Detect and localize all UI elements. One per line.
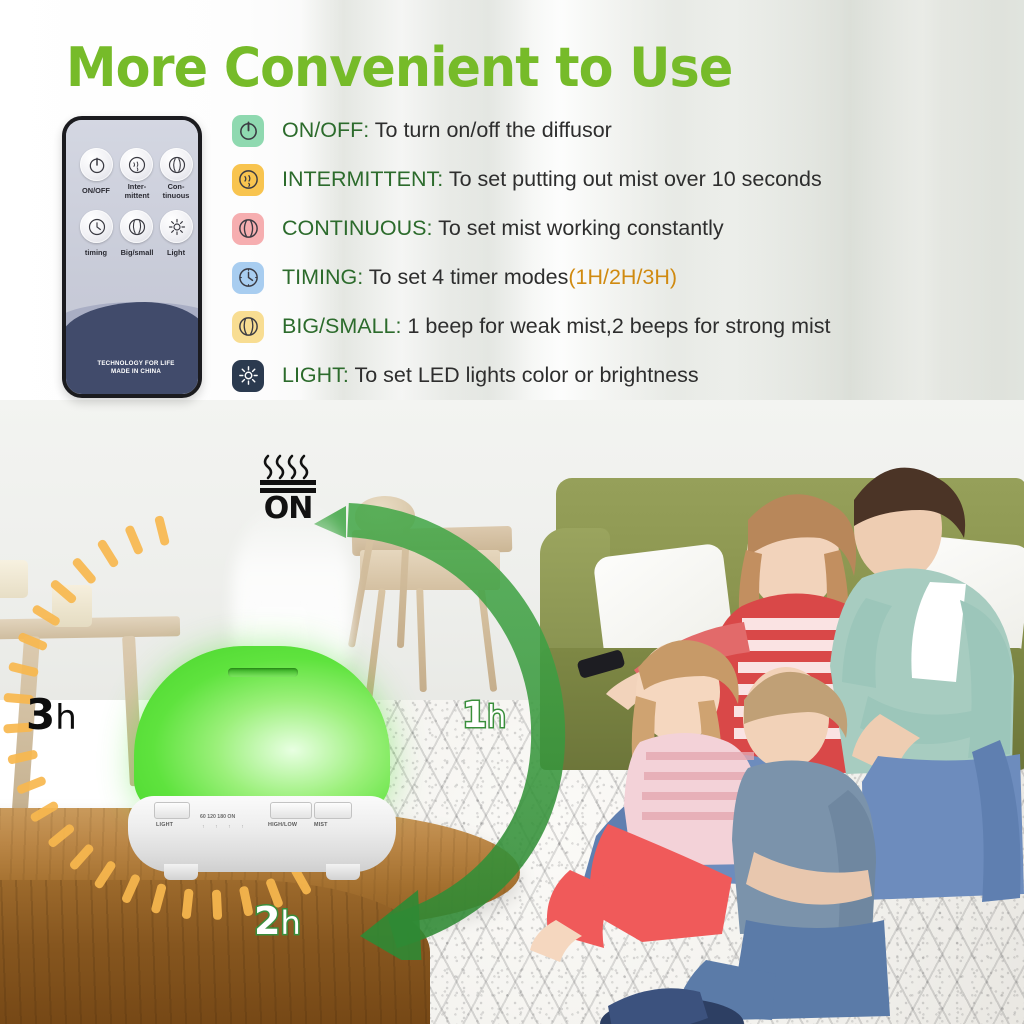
remote-button-light[interactable]	[160, 210, 193, 243]
remote-label-onoff: ON/OFF	[74, 186, 118, 195]
feature-text: LIGHT: To set LED lights color or bright…	[282, 363, 699, 388]
timer-arc-tick	[93, 860, 117, 890]
clock-icon	[87, 217, 107, 237]
remote-button-onoff[interactable]	[80, 148, 113, 181]
feature-row: BIG/SMALL: 1 beep for weak mist,2 beeps …	[232, 302, 932, 351]
remote-control: TECHNOLOGY FOR LIFE MADE IN CHINA ON/OFF	[62, 116, 202, 398]
intermittent-mist-icon	[237, 168, 260, 191]
diffuser-control-panel: LIGHT 60 120 180 ON ↑ ↑ ↑ ↑ HIGH/LOW MIS…	[148, 802, 380, 848]
feature-icon-badge	[232, 213, 264, 245]
timer-arc-tick	[239, 886, 254, 917]
remote-footer-line1: TECHNOLOGY FOR LIFE	[66, 360, 202, 368]
feature-icon-badge	[232, 262, 264, 294]
high-low-button[interactable]	[270, 802, 312, 819]
feature-row: ON/OFF: To turn on/off the diffusor	[232, 106, 932, 155]
timer-arc-tick	[17, 632, 48, 652]
timer-label-2h: 2h	[254, 902, 301, 940]
remote-footer-text: TECHNOLOGY FOR LIFE MADE IN CHINA	[66, 360, 202, 376]
light-button-label: LIGHT	[156, 822, 190, 828]
remote-label-bigsmall: Big/small	[115, 248, 159, 257]
big-small-mist-icon	[127, 217, 147, 237]
timer-scale-labels: 60 120 180 ON	[200, 814, 235, 820]
remote-label-continuous: Con- tinuous	[154, 182, 198, 200]
remote-button-intermittent[interactable]	[120, 148, 153, 181]
remote-label-timing: timing	[74, 248, 118, 257]
feature-label: LIGHT:	[282, 363, 349, 387]
continuous-mist-icon	[167, 155, 187, 175]
mist-outlet-slot	[228, 668, 298, 677]
feature-description: To set LED lights color or brightness	[349, 363, 699, 387]
timer-label-1h-unit: h	[487, 700, 506, 735]
feature-text: TIMING: To set 4 timer modes(1H/2H/3H)	[282, 265, 677, 290]
feature-row: LIGHT: To set LED lights color or bright…	[232, 351, 932, 400]
feature-label: ON/OFF:	[282, 118, 369, 142]
continuous-mist-icon	[237, 217, 260, 240]
feature-text: ON/OFF: To turn on/off the diffusor	[282, 118, 612, 143]
feature-text: CONTINUOUS: To set mist working constant…	[282, 216, 724, 241]
timer-arc-tick	[182, 889, 194, 920]
remote-footer-line2: MADE IN CHINA	[66, 368, 202, 376]
power-icon	[87, 155, 107, 175]
steam-lines-icon	[259, 452, 317, 480]
feature-icon-badge	[232, 360, 264, 392]
light-sun-icon	[167, 217, 187, 237]
on-marker-label: ON	[248, 494, 328, 524]
timer-label-1h: 1h	[462, 698, 506, 734]
feature-accent: (1H/2H/3H)	[568, 265, 677, 289]
timer-label-3h-value: 3	[26, 690, 55, 739]
on-state-marker: ON	[248, 452, 328, 524]
on-marker-bar	[260, 480, 316, 485]
feature-label: BIG/SMALL:	[282, 314, 402, 338]
remote-label-intermittent: Inter- mittent	[115, 182, 159, 200]
timer-arc-tick	[212, 890, 222, 920]
high-low-button-label: HIGH/LOW	[268, 822, 314, 828]
timer-arc-tick	[49, 578, 78, 604]
feature-text: BIG/SMALL: 1 beep for weak mist,2 beeps …	[282, 314, 831, 339]
feature-description: To turn on/off the diffusor	[369, 118, 612, 142]
timer-arc-tick	[68, 843, 95, 871]
remote-label-light: Light	[154, 248, 198, 257]
timer-label-2h-value: 2	[254, 899, 280, 943]
feature-row: TIMING: To set 4 timer modes(1H/2H/3H)	[232, 253, 932, 302]
timer-label-3h-unit: h	[55, 698, 77, 738]
remote-button-continuous[interactable]	[160, 148, 193, 181]
feature-icon-badge	[232, 311, 264, 343]
big-small-mist-icon	[237, 315, 260, 338]
timer-arc-tick	[47, 823, 76, 849]
timer-arc-tick	[150, 883, 166, 914]
remote-footer-panel	[62, 302, 202, 394]
feature-description: To set 4 timer modes	[363, 265, 568, 289]
timer-label-2h-unit: h	[280, 904, 300, 942]
feature-list: ON/OFF: To turn on/off the diffusor INTE…	[232, 106, 932, 400]
timer-arc-tick	[154, 515, 170, 546]
timer-arc-tick	[16, 775, 47, 794]
mist-button[interactable]	[314, 802, 352, 819]
light-button[interactable]	[154, 802, 190, 819]
timer-label-1h-value: 1	[462, 695, 487, 736]
timer-arc-tick	[29, 800, 59, 823]
feature-row: INTERMITTENT: To set putting out mist ov…	[232, 155, 932, 204]
feature-text: INTERMITTENT: To set putting out mist ov…	[282, 167, 822, 192]
remote-button-timing[interactable]	[80, 210, 113, 243]
product-infographic: LIGHT 60 120 180 ON ↑ ↑ ↑ ↑ HIGH/LOW MIS…	[0, 0, 1024, 1024]
timer-scale-marks: ↑ ↑ ↑ ↑	[202, 824, 248, 830]
feature-description: To set mist working constantly	[433, 216, 724, 240]
feature-label: INTERMITTENT:	[282, 167, 443, 191]
timer-arc-tick	[31, 604, 61, 627]
aroma-diffuser: LIGHT 60 120 180 ON ↑ ↑ ↑ ↑ HIGH/LOW MIS…	[128, 646, 396, 886]
mist-button-label: MIST	[314, 822, 352, 828]
timer-arc-tick	[96, 538, 119, 568]
feature-icon-badge	[232, 115, 264, 147]
remote-button-bigsmall[interactable]	[120, 210, 153, 243]
timer-label-3h: 3h	[26, 694, 77, 736]
intermittent-mist-icon	[127, 155, 147, 175]
feature-description: 1 beep for weak mist,2 beeps for strong …	[402, 314, 831, 338]
clock-icon	[237, 266, 260, 289]
light-sun-icon	[237, 364, 260, 387]
feature-description: To set putting out mist over 10 seconds	[443, 167, 821, 191]
feature-icon-badge	[232, 164, 264, 196]
power-icon	[237, 119, 260, 142]
timer-arc-tick	[124, 524, 144, 555]
feature-label: TIMING:	[282, 265, 363, 289]
timer-arc-tick	[71, 557, 97, 586]
feature-label: CONTINUOUS:	[282, 216, 433, 240]
page-title: More Convenient to Use	[66, 36, 732, 99]
feature-row: CONTINUOUS: To set mist working constant…	[232, 204, 932, 253]
